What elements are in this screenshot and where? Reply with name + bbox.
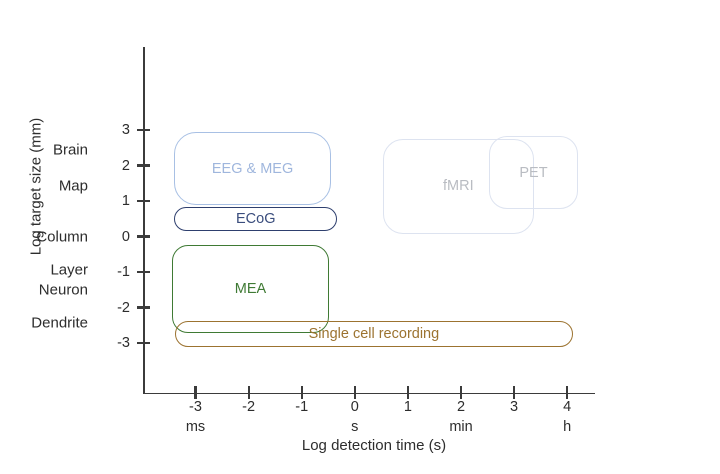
region-label: PET [519, 165, 547, 181]
region-label: MEA [235, 281, 266, 297]
x-tick-label: 2 [457, 399, 465, 415]
region-ecog: ECoG [174, 207, 337, 230]
x-tick-mark [301, 386, 303, 399]
x-tick-label: -1 [295, 399, 308, 415]
x-tick-label: -2 [242, 399, 255, 415]
y-tick-mark [137, 306, 150, 308]
x-axis-title: Log detection time (s) [249, 437, 499, 454]
x-unit-label: min [449, 419, 472, 435]
y-tick-label: 1 [106, 193, 130, 209]
region-mea: MEA [172, 245, 330, 333]
scale-label-dendrite: Dendrite [31, 315, 88, 332]
y-tick-mark [137, 129, 150, 131]
region-label: EEG & MEG [212, 161, 293, 177]
region-label: ECoG [236, 211, 276, 227]
x-tick-mark [248, 386, 250, 399]
y-tick-label: 2 [106, 158, 130, 174]
scale-label-neuron: Neuron [39, 282, 88, 299]
scale-label-brain: Brain [53, 141, 88, 158]
y-tick-mark [137, 164, 150, 166]
y-tick-label: 0 [106, 229, 130, 245]
x-tick-label: 3 [510, 399, 518, 415]
x-tick-mark [354, 386, 356, 399]
y-tick-mark [137, 271, 150, 273]
y-tick-mark [137, 200, 150, 202]
scale-label-map: Map [59, 178, 88, 195]
x-tick-label: 4 [563, 399, 571, 415]
x-tick-label: 0 [351, 399, 359, 415]
y-tick-label: -3 [106, 335, 130, 351]
x-tick-mark [513, 386, 515, 399]
scale-label-layer: Layer [50, 262, 88, 279]
y-tick-mark [137, 342, 150, 344]
x-unit-label: s [351, 419, 358, 435]
y-axis-title: Log target size (mm) [28, 107, 45, 267]
region-label: Single cell recording [309, 326, 440, 342]
x-tick-mark [566, 386, 568, 399]
y-tick-label: -1 [106, 264, 130, 280]
region-pet: PET [489, 136, 578, 208]
region-label: fMRI [443, 178, 474, 194]
region-eeg-meg: EEG & MEG [174, 132, 331, 205]
x-unit-label: h [563, 419, 571, 435]
x-axis-line [143, 393, 595, 395]
x-tick-label: -3 [189, 399, 202, 415]
y-tick-label: 3 [106, 122, 130, 138]
x-tick-label: 1 [404, 399, 412, 415]
x-tick-mark [460, 386, 462, 399]
x-tick-mark [194, 386, 196, 399]
y-tick-label: -2 [106, 300, 130, 316]
chart-canvas: 3210-1-2-3 -3ms-2-10s12min34h BrainMapCo… [0, 0, 720, 474]
region-single-cell-recording: Single cell recording [175, 321, 572, 347]
x-unit-label: ms [186, 419, 205, 435]
x-tick-mark [407, 386, 409, 399]
y-tick-mark [137, 235, 150, 237]
